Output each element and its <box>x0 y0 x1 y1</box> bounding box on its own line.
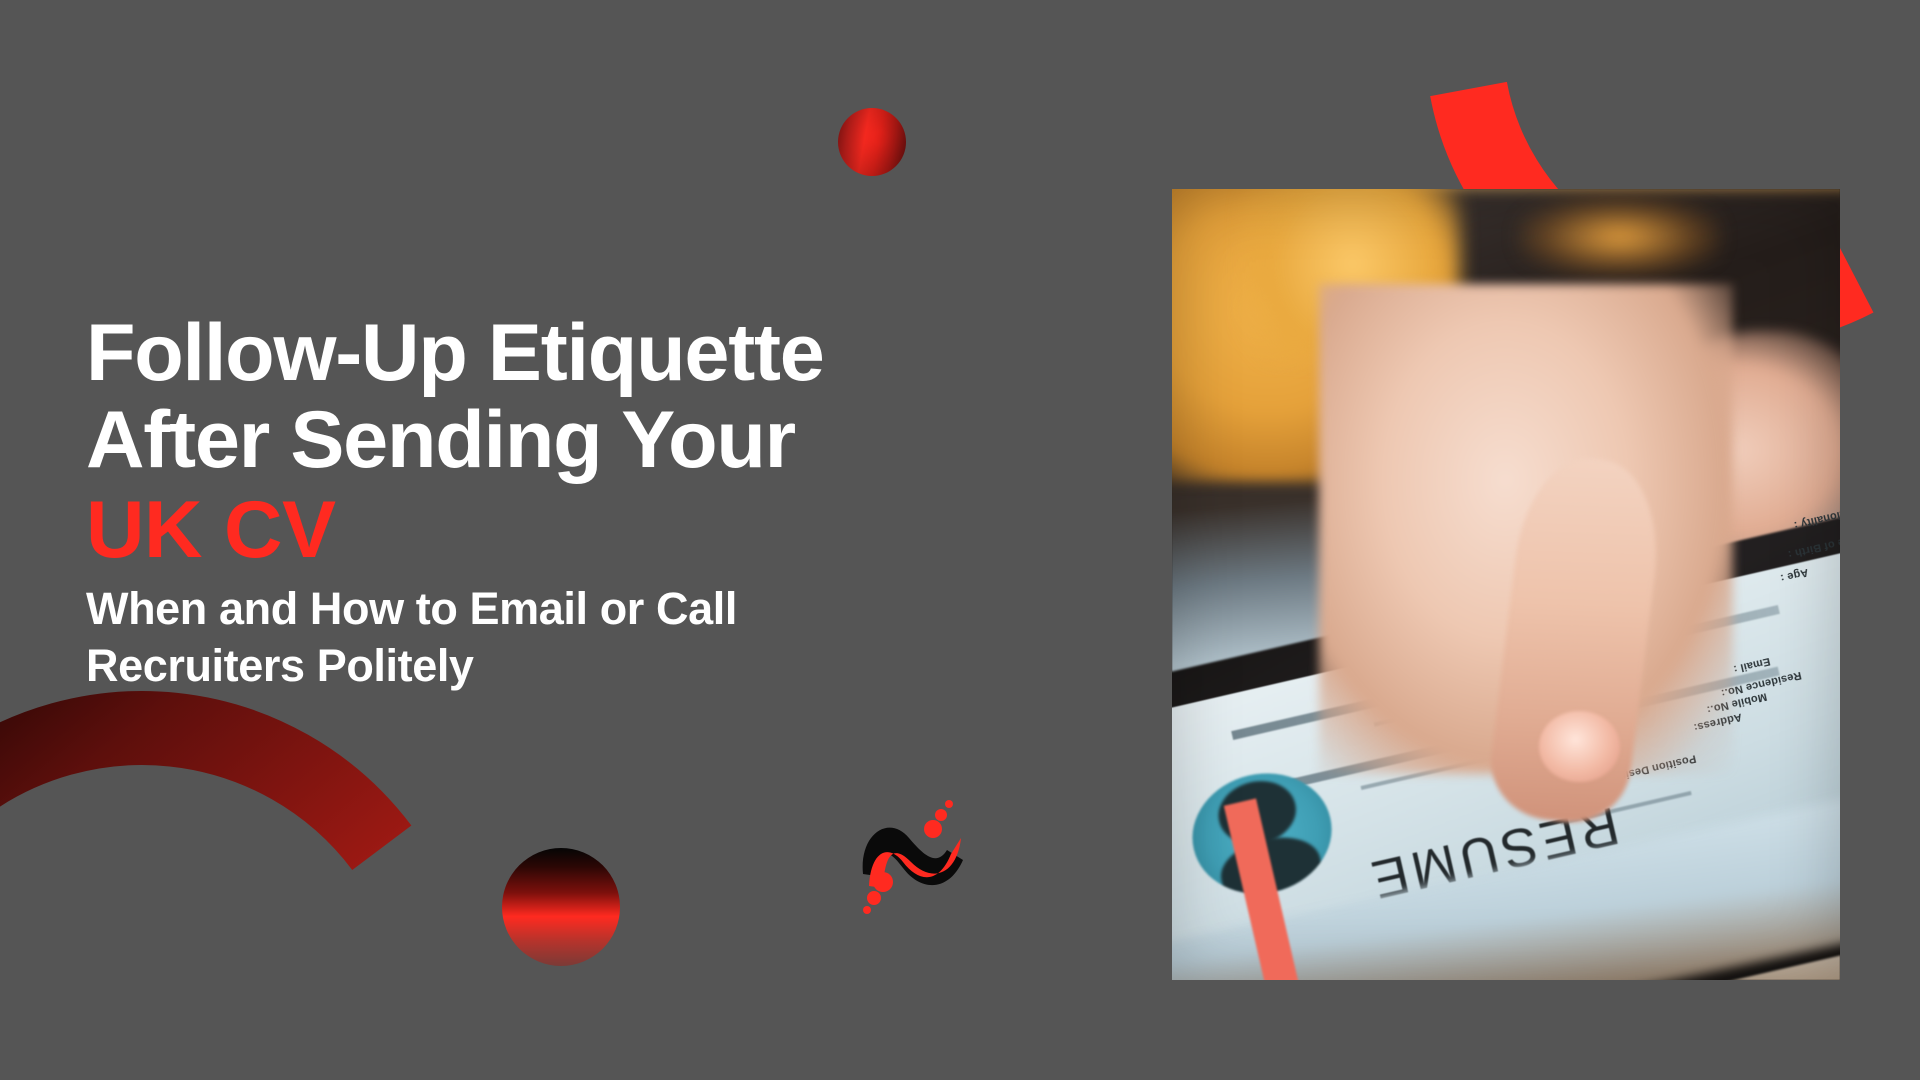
subheadline-line-1: When and How to Email or Call <box>86 581 1126 638</box>
photo-fingertip <box>1539 711 1619 782</box>
hero-photo-resume-tablet: RESUME Position Desired : Address: Mobil… <box>1172 189 1840 980</box>
headline-block: Follow-Up Etiquette After Sending Your U… <box>86 310 1126 694</box>
photo-warm-bokeh <box>1519 197 1719 276</box>
headline-line-2: After Sending Your <box>86 397 1126 484</box>
subheadline-block: When and How to Email or Call Recruiters… <box>86 581 1126 694</box>
subheadline-line-2: Recruiters Politely <box>86 638 1126 695</box>
headline-line-1: Follow-Up Etiquette <box>86 310 1126 397</box>
blog-banner: Follow-Up Etiquette After Sending Your U… <box>0 0 1920 1080</box>
red-sphere-decoration-top <box>838 108 906 176</box>
brand-logo-infinity-icon[interactable] <box>845 788 975 918</box>
red-sphere-decoration-bottom <box>502 848 620 966</box>
red-gradient-ring-arc-bottom-left-icon <box>0 658 512 1080</box>
headline-accent-line: UK CV <box>86 483 1126 579</box>
photo-scene: RESUME Position Desired : Address: Mobil… <box>1172 189 1840 980</box>
